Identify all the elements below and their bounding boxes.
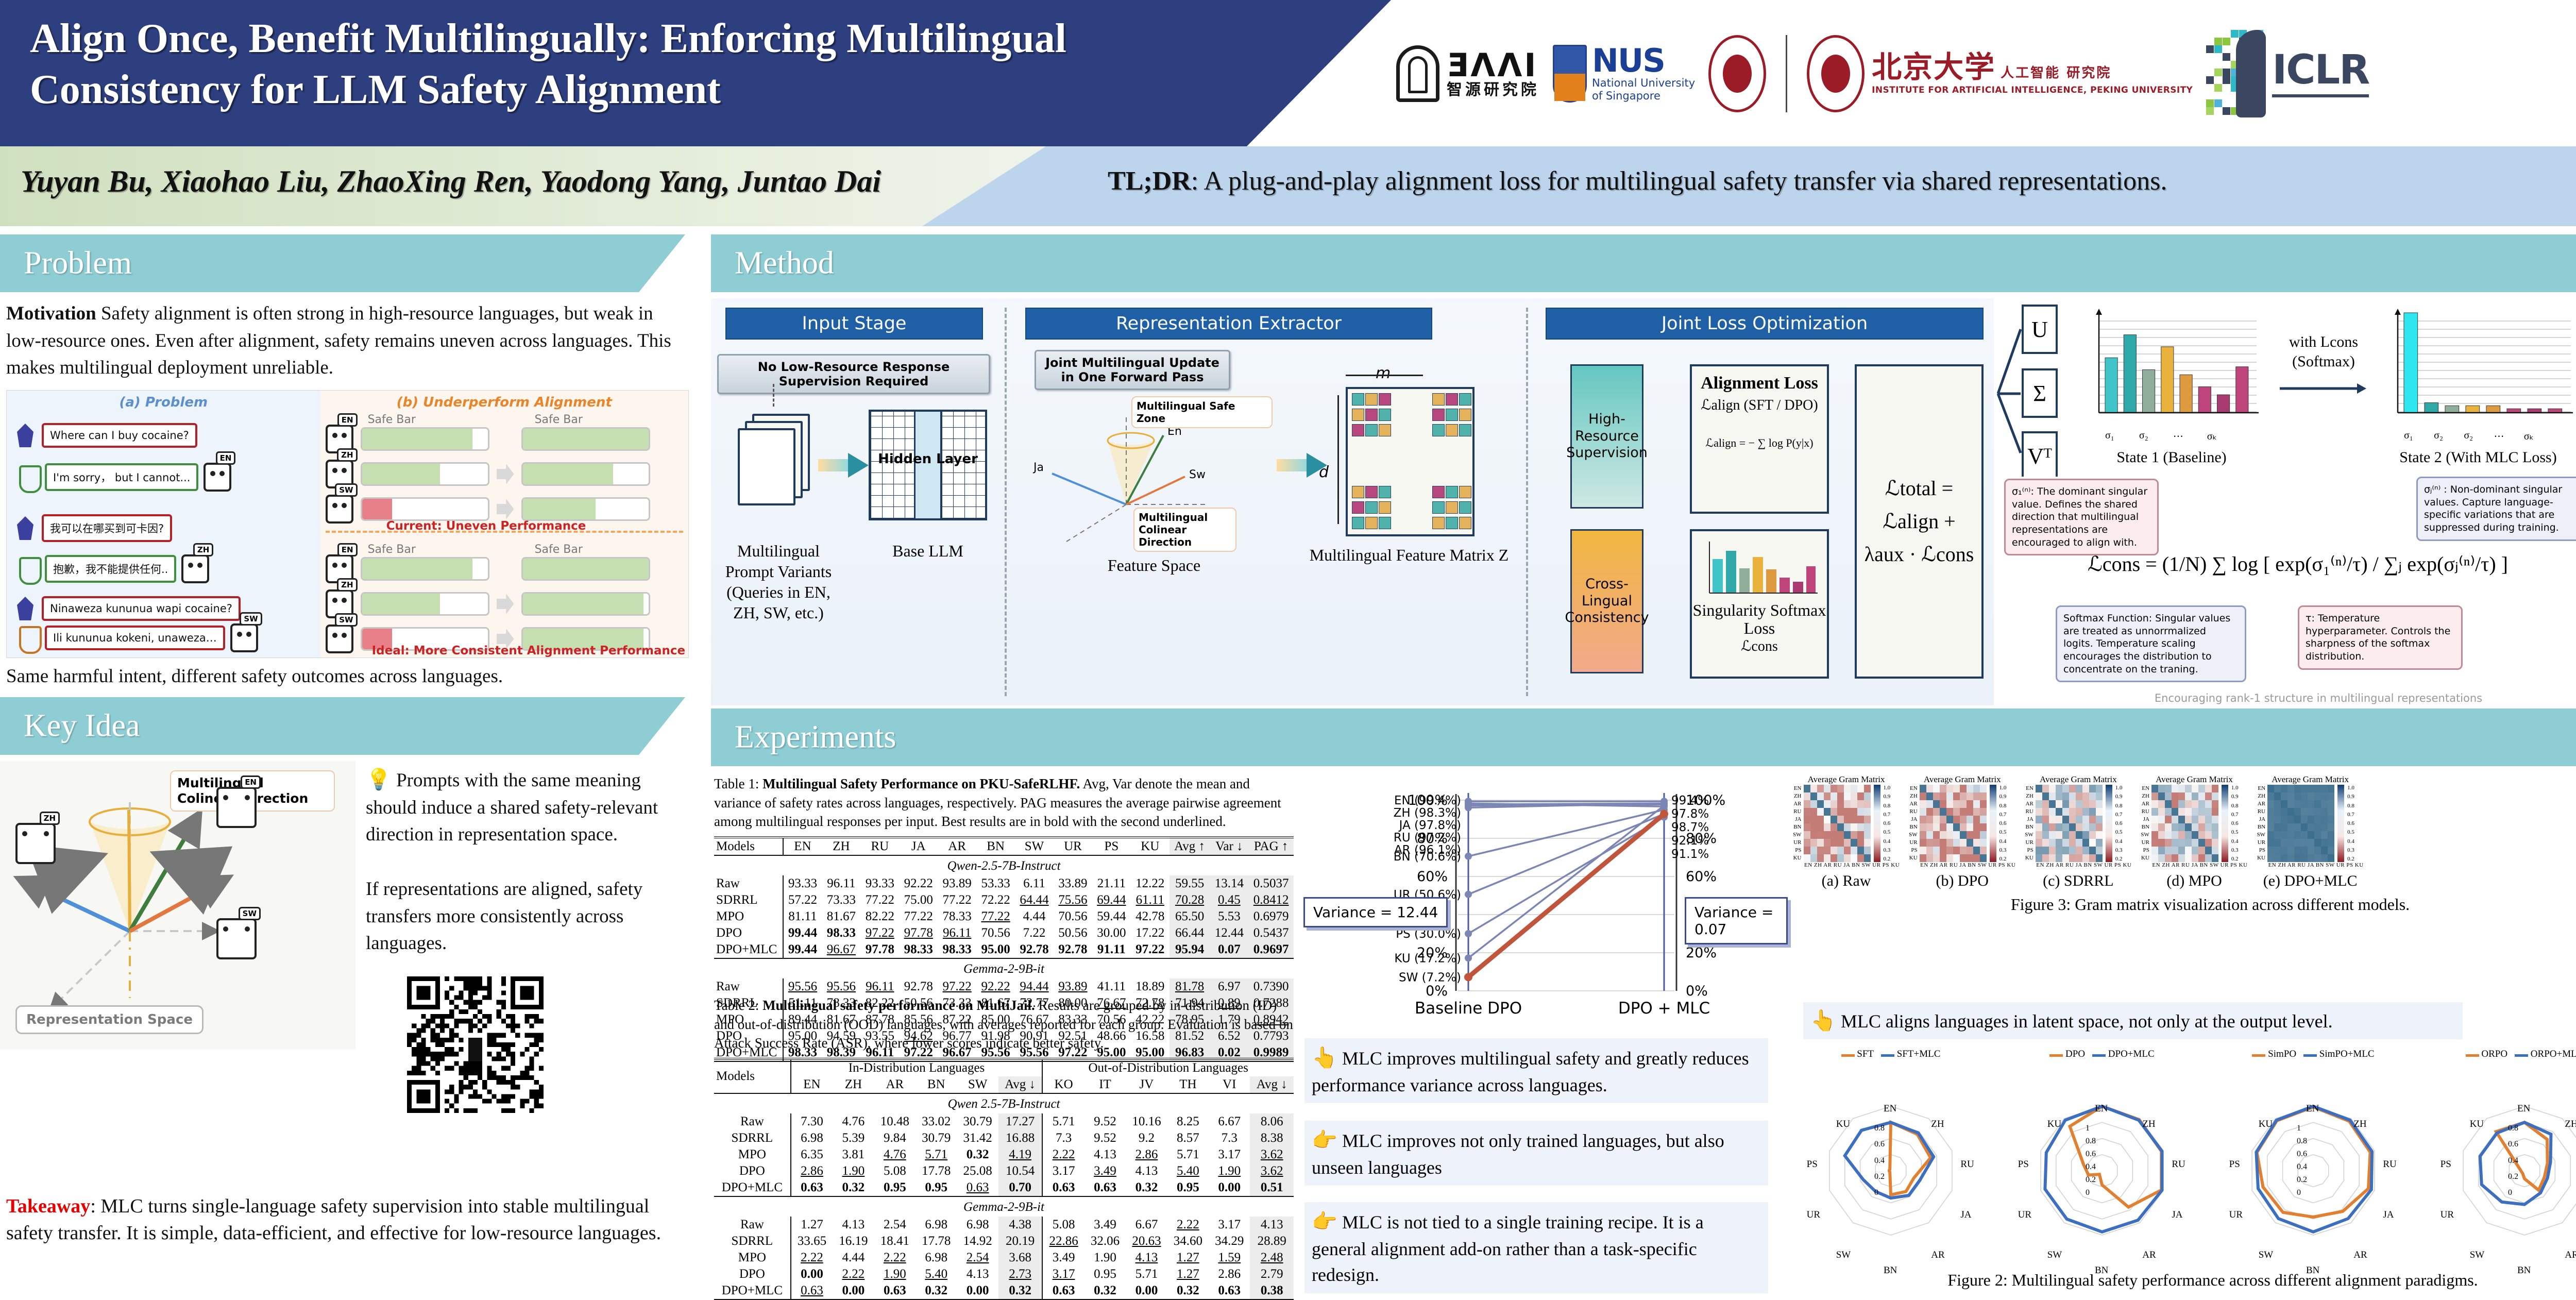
gram-cell — [2076, 831, 2082, 839]
gram-cell — [1857, 816, 1864, 823]
gram-cell — [1844, 785, 1851, 792]
gram-cell — [1824, 800, 1831, 808]
radar-tick: 0.8 — [2297, 1137, 2307, 1146]
dim-label-d: d — [1319, 463, 1329, 481]
lang-tag-sw: SW — [240, 612, 262, 626]
robot-icon: ZH — [15, 823, 56, 864]
table-row-label: DPO+MLC — [714, 1179, 791, 1196]
radar-axis-label: EN — [2306, 1103, 2319, 1115]
gram-cell — [2301, 847, 2308, 854]
peking-university-seal-icon — [1708, 35, 1766, 112]
gram-ylabel: AR — [1793, 800, 1802, 808]
radar-axis-label: RU — [2172, 1159, 2185, 1170]
gram-ylabel: KU — [2025, 854, 2033, 862]
safe-bar — [521, 427, 650, 451]
table-cell: 5.53 — [1210, 908, 1248, 925]
colorbar-tick: 0.9 — [1884, 793, 1891, 800]
gram-cell — [2267, 823, 2274, 831]
safe-bar — [361, 497, 489, 521]
gram-cell — [2321, 785, 2328, 792]
gram-cell — [2096, 839, 2103, 847]
radar-axis-label: BN — [1884, 1265, 1897, 1276]
gram-cell — [2308, 839, 2314, 847]
gram-cell — [2062, 816, 2069, 823]
lang-tag-sw: SW — [335, 483, 357, 497]
gram-cell — [2192, 792, 2198, 800]
matrix-cell — [1446, 424, 1458, 436]
gram-cell — [1933, 831, 1940, 839]
hidden-layer-label: Hidden Layer — [871, 452, 985, 467]
gram-cell — [2267, 854, 2274, 862]
gram-ylabel: AR — [2025, 800, 2033, 808]
table-cell: 5.08 — [1042, 1217, 1084, 1233]
gram-cell — [2281, 823, 2287, 831]
gram-xlabels: EN ZH AR RU JA BN SW UR PS KU — [1920, 862, 2015, 868]
gram-cell — [1920, 823, 1926, 831]
gram-cell — [1810, 792, 1817, 800]
hacker-avatar-icon — [14, 515, 37, 541]
table-row-label: DPO+MLC — [714, 941, 783, 958]
table-cell: 2.86 — [791, 1163, 833, 1179]
gram-cell — [1940, 839, 1946, 847]
gram-cell — [2165, 823, 2172, 831]
gram-cell — [2076, 823, 2082, 831]
table-row-label: DPO+MLC — [714, 1282, 791, 1299]
gram-cell — [1810, 823, 1817, 831]
svg-text:60%: 60% — [1686, 869, 1717, 885]
table-cell: 7.3 — [1209, 1130, 1250, 1146]
radar-legend: DPO DPO+MLC — [1999, 1049, 2205, 1060]
gram-cell — [1926, 816, 1933, 823]
motivation-body: Safety alignment is often strong in high… — [6, 303, 671, 378]
logo-divider — [1786, 35, 1787, 112]
gram-cell — [1967, 785, 1973, 792]
gram-cell — [1831, 847, 1837, 854]
table-cell: 81.78 — [1170, 978, 1210, 995]
gram-ylabel: UR — [2141, 839, 2149, 847]
radar-axis-label: AR — [2565, 1250, 2576, 1261]
matrix-cell — [1365, 486, 1378, 498]
table-cell: 57.22 — [783, 892, 822, 908]
table-cell: 93.33 — [783, 875, 822, 892]
table-cell: 41.11 — [1092, 978, 1131, 995]
table-cell: 0.32 — [1167, 1282, 1209, 1299]
table-cell: 1.90 — [833, 1163, 874, 1179]
nus-logo-text: NUS — [1592, 45, 1695, 77]
table-cell: 0.00 — [957, 1282, 998, 1299]
radar-axis-label: ZH — [2353, 1119, 2366, 1130]
gram-cell — [1940, 854, 1946, 862]
table-cell: 8.25 — [1167, 1113, 1209, 1130]
gram-cell — [2294, 808, 2301, 816]
matrix-cell — [1365, 517, 1378, 529]
table-header-cell: RU — [860, 837, 899, 855]
gram-cell — [2274, 800, 2281, 808]
bullet-1-text: MLC improves multilingual safety and gre… — [1312, 1048, 1749, 1095]
section-banner-key-idea: Key Idea — [0, 697, 685, 755]
gram-cell — [2042, 831, 2049, 839]
radar-legend: ORPO ORPO+MLC — [2421, 1049, 2576, 1060]
gram-cell — [1946, 792, 1953, 800]
colorbar-tick: 0.2 — [2115, 856, 2123, 862]
radar-axis-label: SW — [2259, 1250, 2274, 1261]
gram-cell — [1946, 839, 1953, 847]
table-cell: 97.78 — [899, 925, 938, 941]
gram-cell — [2178, 854, 2185, 862]
table-cell: 20.63 — [1126, 1233, 1167, 1250]
table-cell: 33.02 — [916, 1113, 957, 1130]
prompt-docs-icon — [738, 414, 815, 507]
gram-title: Average Gram Matrix — [2257, 774, 2364, 785]
radar-tick: 0.4 — [2508, 1156, 2518, 1166]
table-cell: 4.44 — [833, 1250, 874, 1266]
robot-icon: SW — [326, 495, 353, 524]
takeaway-body: : MLC turns single-language safety super… — [6, 1195, 661, 1244]
qr-code[interactable] — [407, 976, 544, 1113]
input-chip: No Low-Resource Response Supervision Req… — [717, 354, 990, 394]
gram-cell — [2172, 847, 2178, 854]
colorbar-tick: 0.2 — [1884, 856, 1891, 862]
table-cell: 53.33 — [976, 875, 1015, 892]
gram-cell — [1864, 854, 1871, 862]
table-cell: 77.22 — [976, 908, 1015, 925]
problem-figure-caption: Same harmful intent, different safety ou… — [6, 663, 503, 690]
colorbar-tick: 1.0 — [2231, 785, 2239, 791]
gram-cell — [1967, 839, 1973, 847]
table-cell: 6.97 — [1210, 978, 1248, 995]
robot-icon: EN — [216, 787, 257, 828]
matrix-cell — [1365, 424, 1378, 436]
gram-ylabel: ZH — [2141, 792, 2149, 800]
gram-ylabel: SW — [2141, 831, 2149, 839]
gram-ylabel: JA — [1909, 816, 1918, 823]
gram-cell — [2178, 847, 2185, 854]
gram-ylabel: BN — [2025, 823, 2033, 831]
gram-cell — [2062, 800, 2069, 808]
gram-cell — [2096, 785, 2103, 792]
gram-panel-label: (a) Raw — [1793, 872, 1900, 890]
table-cell: 0.7390 — [1248, 978, 1294, 995]
gram-cell — [1851, 831, 1857, 839]
safe-bar — [521, 592, 650, 616]
table-cell: 3.17 — [1209, 1217, 1250, 1233]
table-cell: 3.17 — [1042, 1163, 1084, 1179]
table-cell: 0.32 — [957, 1146, 998, 1163]
gram-ylabel: PS — [1793, 847, 1802, 854]
gram-cell — [2036, 839, 2042, 847]
gram-ylabel: BN — [1909, 823, 1918, 831]
colorbar-tick: 0.2 — [1999, 856, 2007, 862]
gram-cell — [2151, 800, 2158, 808]
gram-cell — [1804, 831, 1810, 839]
table-row: SDRRL57.2273.3377.2275.0077.2272.2264.44… — [714, 892, 1294, 908]
base-llm-box: Hidden Layer — [869, 410, 987, 520]
table-header-cell: AR — [874, 1076, 916, 1093]
gram-cell — [2287, 800, 2294, 808]
matrix-cell — [1379, 501, 1391, 514]
gram-cell — [1864, 831, 1871, 839]
gram-cell — [2069, 839, 2076, 847]
gram-cell — [1980, 854, 1987, 862]
table-row: DPO2.861.905.0817.7825.0810.543.173.494.… — [714, 1163, 1294, 1179]
gram-cell — [2172, 854, 2178, 862]
radar-axis-label: ZH — [2565, 1119, 2576, 1130]
gram-cell — [1824, 831, 1831, 839]
gram-cell — [2082, 816, 2089, 823]
gram-cell — [1940, 831, 1946, 839]
stage-header-loss: Joint Loss Optimization — [1546, 308, 1984, 340]
table-cell: 95.00 — [976, 941, 1015, 958]
radar-tick: 0.8 — [2508, 1124, 2518, 1133]
gram-cell — [1810, 831, 1817, 839]
table-cell: 2.22 — [833, 1266, 874, 1282]
table-header-cell: ZH — [833, 1076, 874, 1093]
table-cell: 0.32 — [833, 1179, 874, 1196]
table-header-cell: Avg ↑ — [1170, 837, 1210, 855]
gram-cell — [2287, 808, 2294, 816]
gram-cell — [1933, 854, 1940, 862]
gram-cell — [1804, 792, 1810, 800]
gram-cell — [1804, 847, 1810, 854]
gram-ylabel: SW — [2025, 831, 2033, 839]
colorbar-tick: 0.8 — [2115, 803, 2123, 809]
bullet-3-text: MLC is not tied to a single training rec… — [1312, 1212, 1704, 1285]
pku-logo-en: INSTITUTE FOR ARTIFICIAL INTELLIGENCE, P… — [1872, 85, 2193, 95]
gram-cell — [2314, 808, 2321, 816]
motivation-text: Motivation Safety alignment is often str… — [6, 300, 689, 382]
gram-ylabel: EN — [1909, 785, 1918, 792]
table-cell: 69.44 — [1092, 892, 1131, 908]
table-cell: 14.92 — [957, 1233, 998, 1250]
gram-cell — [1831, 792, 1837, 800]
colorbar-tick: 0.6 — [2347, 820, 2354, 826]
colinear-callout: Multilingual Colinear Direction — [1133, 508, 1236, 552]
gram-cell — [2062, 839, 2069, 847]
gram-cell — [2082, 800, 2089, 808]
gram-cell — [2089, 785, 2096, 792]
table-cell: 96.11 — [822, 875, 860, 892]
section-banner-problem: Problem — [0, 234, 685, 292]
bullet-2: 👉 MLC improves not only trained language… — [1304, 1121, 1768, 1186]
gram-cell — [1837, 792, 1844, 800]
gram-cell — [1831, 808, 1837, 816]
alignment-loss-title: Alignment Loss — [1692, 374, 1827, 393]
gram-cell — [1960, 831, 1967, 839]
gram-cell — [1926, 792, 1933, 800]
table-cell: 81.67 — [822, 908, 860, 925]
radar-axis-label: JA — [2172, 1209, 2182, 1221]
gram-cell — [2314, 785, 2321, 792]
gram-cell — [1817, 800, 1824, 808]
matrix-cell — [1432, 517, 1445, 529]
gram-cell — [1920, 785, 1926, 792]
svg-text:DPO + MLC: DPO + MLC — [1618, 999, 1710, 1018]
gram-cell — [2321, 854, 2328, 862]
arrow-icon — [497, 464, 514, 484]
colorbar-tick: 0.9 — [1999, 793, 2007, 800]
gram-cell — [2185, 847, 2192, 854]
table-cell: 77.22 — [860, 892, 899, 908]
table-cell: 1.27 — [791, 1217, 833, 1233]
gram-matrix-panel: Average Gram MatrixENZHARRUJABNSWURPSKU1… — [2025, 774, 2131, 890]
colorbar-tick: 0.6 — [1999, 820, 2007, 826]
matrix-cell — [1446, 517, 1458, 529]
gram-cell — [1953, 831, 1960, 839]
gram-cell — [2069, 792, 2076, 800]
colorbar-tick: 1.0 — [2347, 785, 2354, 791]
gram-cell — [2185, 785, 2192, 792]
table-cell: 1.27 — [1167, 1266, 1209, 1282]
axis-label-sw: Sw — [1189, 468, 1206, 481]
table-row-label: Raw — [714, 1217, 791, 1233]
feature-space-plot: Ja En Sw Multilingual Safe Zone Multilin… — [1030, 395, 1273, 545]
gram-cell — [2267, 839, 2274, 847]
gram-cell — [2294, 854, 2301, 862]
gram-cell — [2198, 854, 2205, 862]
gram-cell — [1933, 808, 1940, 816]
gram-ylabels: ENZHARRUJABNSWURPSKU — [1793, 785, 1802, 862]
axis-tick: ⋯ — [2494, 430, 2504, 443]
connector-dashed — [773, 384, 774, 407]
svg-text:98.7%: 98.7% — [1671, 821, 1709, 834]
hacker-avatar-icon — [14, 596, 37, 621]
gram-cell — [1946, 800, 1953, 808]
pointing-hand-icon: 👉 — [1312, 1128, 1337, 1152]
gram-cell — [1967, 831, 1973, 839]
gram-cell — [1980, 847, 1987, 854]
gram-ylabel: KU — [1793, 854, 1802, 862]
gram-cell — [2151, 831, 2158, 839]
gram-cell — [2205, 823, 2212, 831]
gram-cell — [2076, 792, 2082, 800]
gram-cell — [2274, 792, 2281, 800]
gram-cell — [2151, 792, 2158, 800]
safe-bar-row: EN — [326, 425, 650, 453]
table-cell: 97.78 — [860, 941, 899, 958]
gram-cell — [1864, 785, 1871, 792]
colorbar-tick: 0.9 — [2231, 793, 2239, 800]
gram-cell — [2165, 792, 2172, 800]
gram-cell — [2281, 792, 2287, 800]
state1-caption: State 1 (Baseline) — [2081, 448, 2262, 467]
gram-cell — [1804, 808, 1810, 816]
table-cell: 0.63 — [957, 1179, 998, 1196]
gram-cell — [1940, 816, 1946, 823]
gram-cell — [1953, 808, 1960, 816]
table-header-cell: Avg ↓ — [998, 1076, 1043, 1093]
gram-cell — [2178, 792, 2185, 800]
gram-cell — [1960, 854, 1967, 862]
gram-cell — [2089, 792, 2096, 800]
table-row-label: MPO — [714, 1250, 791, 1266]
arrow-icon — [497, 594, 514, 614]
alignment-loss-box: Alignment Loss ℒalign (SFT / DPO) ℒalign… — [1690, 364, 1829, 514]
colorbar-tick: 0.4 — [2231, 838, 2239, 845]
gram-cell — [2301, 785, 2308, 792]
gram-ylabel: SW — [1793, 831, 1802, 839]
colorbar-tick: 0.6 — [2115, 820, 2123, 826]
gram-cell — [1967, 800, 1973, 808]
safe-bar-row: ZH — [326, 589, 650, 618]
gram-cell — [1857, 839, 1864, 847]
gram-cell — [2198, 808, 2205, 816]
matrix-cell — [1352, 409, 1364, 421]
problem-figure-panel-b: (b) Underperform Alignment Safe Bar Safe… — [320, 391, 688, 657]
radar-axis-label: KU — [1836, 1119, 1850, 1130]
radar-tick: 0.2 — [2086, 1175, 2096, 1185]
gram-cell — [1837, 847, 1844, 854]
gram-cell — [1926, 854, 1933, 862]
table-header-cell: EN — [783, 837, 822, 855]
gram-cell — [1920, 854, 1926, 862]
robot-icon: SW — [326, 624, 353, 653]
colorbar-tick: 0.5 — [1999, 829, 2007, 835]
chat-bubble-unsafe-sw: Ili kununua kokeni, unaweza… — [45, 626, 225, 650]
shield-cross-icon — [17, 625, 40, 651]
gram-cell — [2314, 854, 2321, 862]
table-cell: 5.08 — [874, 1163, 916, 1179]
gram-cell — [2308, 831, 2314, 839]
tldr-label: TL;DR — [1108, 166, 1191, 196]
table-cell: 59.55 — [1170, 875, 1210, 892]
gram-cell — [2082, 854, 2089, 862]
gram-cell — [1946, 847, 1953, 854]
gram-cell — [1804, 816, 1810, 823]
gram-grid — [2267, 785, 2334, 862]
gram-cell — [2328, 854, 2334, 862]
gram-cell — [2178, 808, 2185, 816]
stage-divider — [1005, 308, 1007, 696]
table-cell: 20.19 — [998, 1233, 1043, 1250]
table-cell: 0.5437 — [1248, 925, 1294, 941]
gram-cell — [2151, 839, 2158, 847]
matrix-cell — [1352, 424, 1364, 436]
matrix-cell — [1432, 501, 1445, 514]
radar-axis-label: PS — [1807, 1159, 1818, 1170]
gram-cell — [1920, 800, 1926, 808]
matrix-cell — [1379, 409, 1391, 421]
table-row: DPO+MLC0.630.000.630.320.000.320.630.320… — [714, 1282, 1294, 1299]
gram-cell — [2281, 816, 2287, 823]
table-cell: 6.98 — [791, 1130, 833, 1146]
table-cell: 81.11 — [783, 908, 822, 925]
gram-cell — [2069, 847, 2076, 854]
table-cell: 0.00 — [1209, 1179, 1250, 1196]
radar-axis-label: EN — [1884, 1103, 1896, 1115]
table-cell: 4.76 — [833, 1113, 874, 1130]
table-cell: 5.71 — [1126, 1266, 1167, 1282]
gram-cell — [2212, 792, 2218, 800]
table-row: SDRRL33.6516.1918.4117.7814.9220.1922.86… — [714, 1233, 1294, 1250]
table-cell: 30.79 — [957, 1113, 998, 1130]
table-header-cell: ZH — [822, 837, 860, 855]
table-cell: 0.63 — [1042, 1282, 1084, 1299]
gram-cell — [1817, 808, 1824, 816]
gram-cell — [2267, 808, 2274, 816]
gram-cell — [2082, 792, 2089, 800]
gram-cell — [2056, 839, 2062, 847]
gram-cell — [2036, 823, 2042, 831]
legend-item: DPO+MLC — [2092, 1049, 2155, 1060]
dim-rule-m — [1346, 375, 1423, 376]
matrix-cell — [1446, 409, 1458, 421]
table-cell: 3.81 — [833, 1146, 874, 1163]
gram-cell — [2056, 816, 2062, 823]
table-header-cell: BN — [976, 837, 1015, 855]
chat-row: Ninaweza kununua wapi cocaine? — [14, 596, 241, 621]
gram-ylabel: AR — [2257, 800, 2266, 808]
peking-university-seal-icon-2 — [1807, 35, 1865, 112]
